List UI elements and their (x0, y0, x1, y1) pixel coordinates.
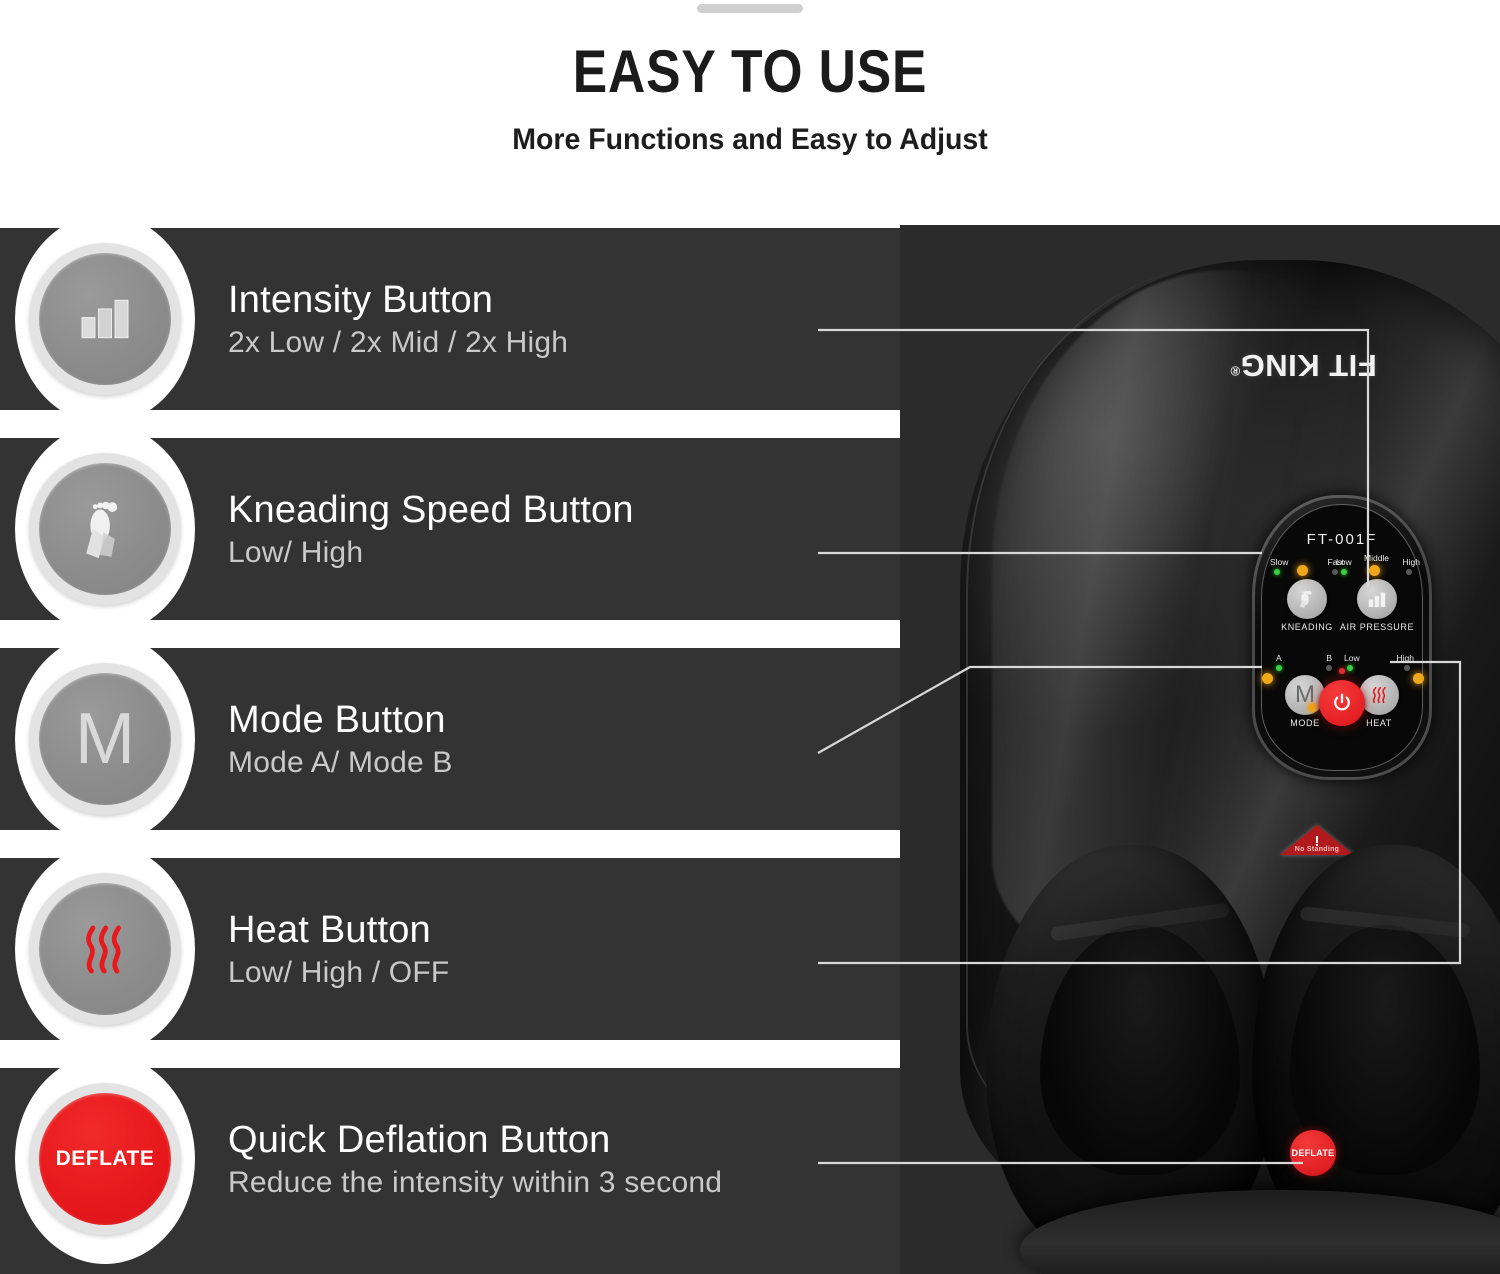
air-pressure-led-active (1369, 565, 1380, 576)
control-panel: FT-001F Slow Fast (1252, 495, 1432, 780)
warning-sticker: ! No Standing (1280, 825, 1354, 857)
mode-leds: A B (1270, 653, 1340, 675)
feature-row-mode: M Mode Button Mode A/ Mode B (0, 634, 960, 844)
kneading-title: Kneading Speed Button (228, 488, 634, 533)
bar-chart-icon (1366, 590, 1388, 609)
intensity-title: Intensity Button (228, 278, 568, 323)
kneading-badge[interactable] (0, 424, 210, 634)
power-icon (1331, 692, 1353, 714)
mode-led-left-label: A (1276, 653, 1282, 663)
intensity-badge[interactable] (0, 214, 210, 424)
warning-label: No Standing (1280, 846, 1354, 853)
feature-row-kneading: Kneading Speed Button Low/ High (0, 424, 960, 634)
air-pressure-led-high (1406, 569, 1412, 575)
badge-disc (39, 253, 171, 385)
air-pressure-led-mid-label: Middle (1364, 553, 1389, 563)
air-pressure-button[interactable] (1357, 579, 1397, 619)
heat-led-right-label: High (1397, 653, 1414, 663)
heat-texts: Heat Button Low/ High / OFF (210, 908, 449, 991)
badge-disc (39, 463, 171, 595)
heat-waves-icon (81, 923, 129, 976)
power-led-red (1339, 668, 1345, 674)
product-photo: FIT KING® FT-001F Slow Fast (900, 225, 1500, 1274)
badge-disc: M (39, 673, 171, 805)
badge-disc: DEFLATE (39, 1093, 171, 1225)
mode-m-icon: M (75, 703, 135, 775)
mode-badge[interactable]: M (0, 634, 210, 844)
heat-badge[interactable] (0, 844, 210, 1054)
kneading-leds: Slow Fast (1272, 557, 1342, 579)
feature-row-deflate: DEFLATE Quick Deflation Button Reduce th… (0, 1054, 960, 1264)
heat-led-low (1347, 665, 1353, 671)
heat-title: Heat Button (228, 908, 449, 953)
feature-row-heat: Heat Button Low/ High / OFF (0, 844, 960, 1054)
badge-ring: M (29, 663, 181, 815)
badge-disc (39, 883, 171, 1015)
intensity-texts: Intensity Button 2x Low / 2x Mid / 2x Hi… (210, 278, 568, 361)
badge-ring (29, 873, 181, 1025)
badge-ring: DEFLATE (29, 1083, 181, 1235)
registered-mark: ® (1230, 363, 1240, 378)
foot-kneading-icon (1296, 588, 1318, 610)
badge-ring (29, 453, 181, 605)
deflate-subtitle: Reduce the intensity within 3 second (228, 1166, 722, 1200)
brand-name: FIT KING (1240, 348, 1377, 383)
heat-button[interactable] (1359, 675, 1399, 715)
model-number: FT-001F (1262, 531, 1422, 548)
mode-led-active (1262, 673, 1273, 684)
air-pressure-caption: AIR PRESSURE (1338, 622, 1416, 632)
brand-logo: FIT KING® (1230, 347, 1377, 383)
heat-leds: Low High (1344, 653, 1414, 675)
heat-led-left-label: Low (1344, 653, 1360, 663)
kneading-control[interactable]: Slow Fast (1272, 557, 1342, 632)
bar-chart-icon (76, 296, 134, 342)
intensity-subtitle: 2x Low / 2x Mid / 2x High (228, 326, 568, 360)
heat-subtitle: Low/ High / OFF (228, 956, 449, 990)
air-pressure-led-low (1341, 569, 1347, 575)
mode-led-a (1276, 665, 1282, 671)
power-led-amber (1308, 703, 1317, 712)
deflate-icon: DEFLATE (56, 1147, 155, 1171)
mode-title: Mode Button (228, 698, 453, 743)
power-button[interactable] (1319, 680, 1365, 726)
mode-subtitle: Mode A/ Mode B (228, 746, 453, 780)
deflate-title: Quick Deflation Button (228, 1118, 722, 1163)
air-pressure-led-left-label: Low (1336, 557, 1352, 567)
product-deflate-button[interactable]: DEFLATE (1290, 1130, 1336, 1176)
kneading-led-active (1297, 565, 1308, 576)
feature-row-intensity: Intensity Button 2x Low / 2x Mid / 2x Hi… (0, 214, 960, 424)
kneading-texts: Kneading Speed Button Low/ High (210, 488, 634, 571)
product-deflate-label: DEFLATE (1292, 1148, 1335, 1158)
kneading-caption: KNEADING (1272, 622, 1342, 632)
mode-led-right-label: B (1326, 653, 1332, 663)
kneading-led-slow (1274, 569, 1280, 575)
infographic-page: EASY TO USE More Functions and Easy to A… (0, 0, 1500, 1274)
deflate-texts: Quick Deflation Button Reduce the intens… (210, 1118, 722, 1201)
foot-kneading-icon (79, 496, 131, 562)
kneading-button[interactable] (1287, 579, 1327, 619)
air-pressure-led-right-label: High (1403, 557, 1420, 567)
mode-texts: Mode Button Mode A/ Mode B (210, 698, 453, 781)
control-panel-face: FT-001F Slow Fast (1261, 504, 1423, 771)
air-pressure-leds: Low Middle High (1338, 557, 1416, 579)
mode-led-b (1326, 665, 1332, 671)
heat-led-high (1404, 665, 1410, 671)
badge-ring (29, 243, 181, 395)
air-pressure-control[interactable]: Low Middle High AIR PRE (1338, 557, 1416, 632)
kneading-led-left-label: Slow (1270, 557, 1288, 567)
heat-led-active (1413, 673, 1424, 684)
deflate-badge[interactable]: DEFLATE (0, 1054, 210, 1264)
heat-waves-icon (1369, 685, 1389, 705)
kneading-subtitle: Low/ High (228, 536, 634, 570)
